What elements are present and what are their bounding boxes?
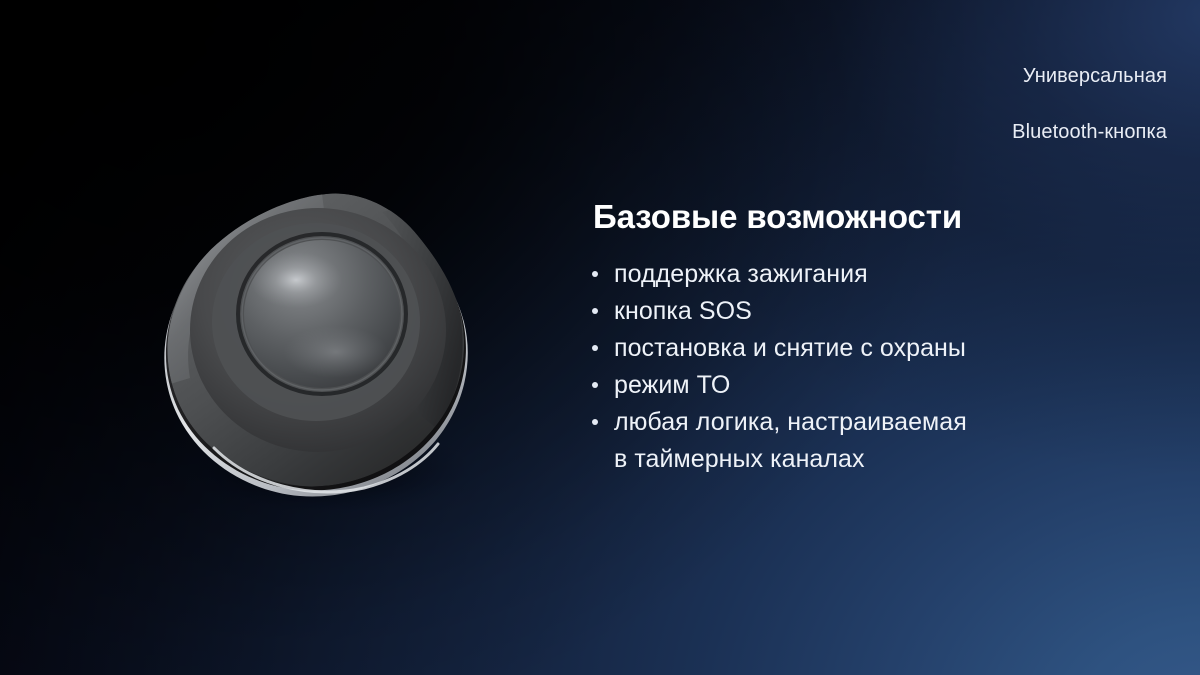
slide-caption: Универсальная Bluetooth-кнопка bbox=[807, 34, 1167, 174]
feature-list: поддержка зажигания кнопка SOS постановк… bbox=[592, 256, 1112, 478]
device-dome-specular bbox=[250, 252, 342, 308]
list-item-label: режим ТО bbox=[614, 371, 730, 399]
slide-root: Универсальная Bluetooth-кнопка bbox=[0, 0, 1200, 675]
bullet-dot-icon bbox=[592, 382, 598, 388]
list-item: режим ТО bbox=[592, 367, 1112, 404]
list-item: любая логика, настраиваемая в таймерных … bbox=[592, 404, 1112, 478]
bullet-dot-icon bbox=[592, 308, 598, 314]
bullet-dot-icon bbox=[592, 345, 598, 351]
list-item: поддержка зажигания bbox=[592, 256, 1112, 293]
list-item-label-continued: в таймерных каналах bbox=[614, 441, 1112, 478]
page-title: Базовые возможности bbox=[593, 196, 1112, 238]
content-column: Базовые возможности поддержка зажигания … bbox=[592, 196, 1112, 478]
list-item-label: любая логика, настраиваемая bbox=[614, 408, 967, 436]
list-item-label: постановка и снятие с охраны bbox=[614, 334, 966, 362]
list-item-label: поддержка зажигания bbox=[614, 260, 868, 288]
bullet-dot-icon bbox=[592, 419, 598, 425]
bullet-dot-icon bbox=[592, 271, 598, 277]
list-item: постановка и снятие с охраны bbox=[592, 330, 1112, 367]
caption-line-2: Bluetooth-кнопка bbox=[807, 118, 1167, 146]
device-illustration bbox=[150, 180, 490, 510]
caption-line-1: Универсальная bbox=[807, 62, 1167, 90]
list-item-label: кнопка SOS bbox=[614, 297, 752, 325]
bluetooth-button-device-image bbox=[150, 180, 490, 510]
device-dome-bounce bbox=[284, 326, 388, 378]
list-item: кнопка SOS bbox=[592, 293, 1112, 330]
